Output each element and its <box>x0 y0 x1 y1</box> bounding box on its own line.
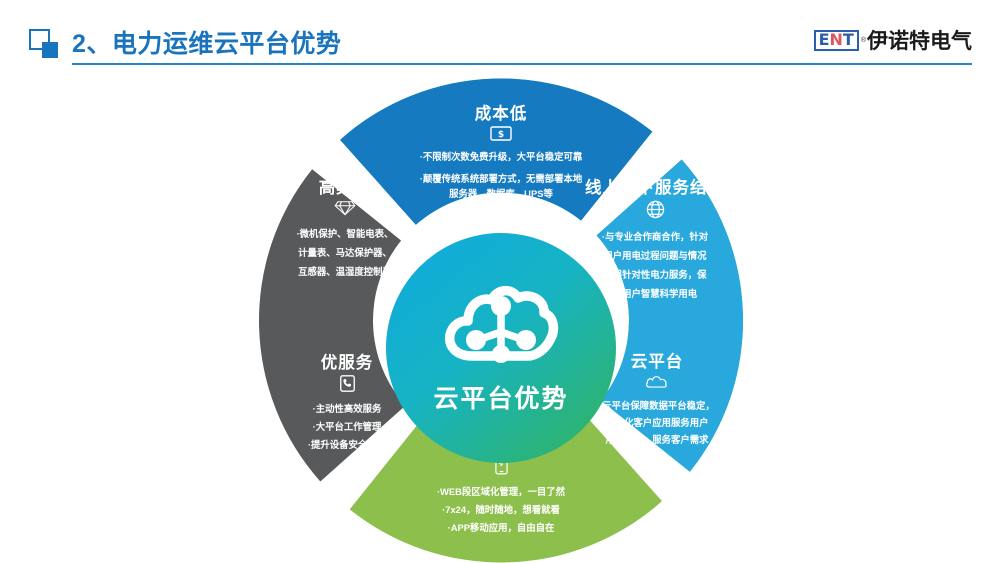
donut-wedge-convenient[interactable] <box>259 169 405 481</box>
cloud-network-icon <box>442 282 560 373</box>
logo-letter-t: T <box>843 32 854 48</box>
logo-company-name: 伊诺特电气 <box>867 25 972 55</box>
square-badge-icon <box>29 29 59 59</box>
slide-root: 2、电力运维云平台优势 E N T ® 伊诺特电气 成本低 $ <box>0 0 1000 563</box>
logo-ent-box: E N T <box>814 30 859 51</box>
donut-wedge-integration[interactable] <box>597 160 743 472</box>
center-hub[interactable]: 云平台优势 <box>386 233 616 463</box>
square-solid-shape <box>42 42 58 58</box>
brand-logo: E N T ® 伊诺特电气 <box>814 26 972 54</box>
slide-header: 2、电力运维云平台优势 E N T ® 伊诺特电气 <box>0 0 1000 72</box>
logo-letter-n: N <box>830 32 843 48</box>
registered-mark-icon: ® <box>861 37 866 44</box>
center-hub-title: 云平台优势 <box>433 379 568 415</box>
header-divider <box>72 63 972 65</box>
logo-letter-e: E <box>819 32 830 48</box>
page-title: 2、电力运维云平台优势 <box>72 24 341 60</box>
cloud-advantage-donut: 成本低 $ ·不限制次数免费升级，大平台稳定可靠 ·颠覆传统系统部署方式，无需部… <box>230 78 772 563</box>
donut-wedge-service[interactable] <box>340 78 652 224</box>
